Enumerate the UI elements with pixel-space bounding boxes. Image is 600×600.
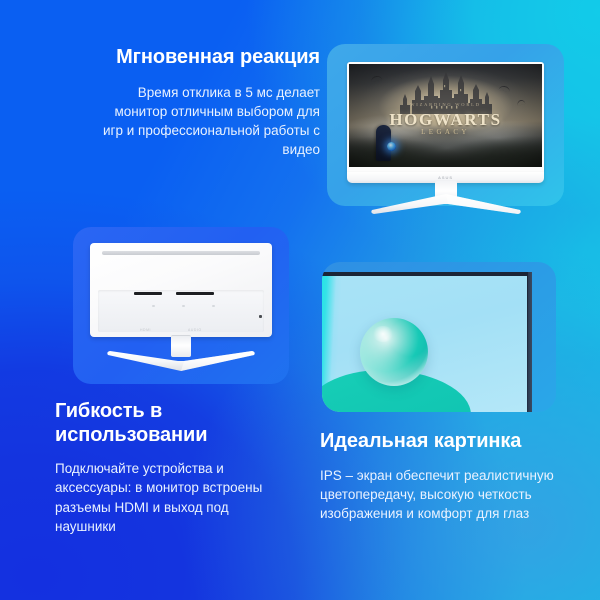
ips-wallpaper-sphere-highlight <box>372 326 394 342</box>
product-poster: WIZARDING WORLD HOGWARTS LEGACY ASUS <box>0 0 600 600</box>
monitor-rear-indicator <box>259 315 262 318</box>
text-block-instant-response: Мгновенная реакция Время отклика в 5 мс … <box>96 46 320 159</box>
monitor-stand-base <box>370 194 522 216</box>
heading-ideal-picture: Идеальная картинка <box>320 430 570 454</box>
monitor-rear-view: HDMI AUDIO <box>90 243 272 373</box>
text-block-flexibility: Гибкость в использовании Подключайте уст… <box>55 400 277 536</box>
ips-monitor-closeup <box>322 272 532 412</box>
audio-port-label: AUDIO <box>188 328 202 332</box>
monitor-rear-recess <box>98 290 264 332</box>
game-art-vignette <box>349 64 542 167</box>
heading-instant-response: Мгновенная реакция <box>96 46 320 70</box>
heading-flexibility: Гибкость в использовании <box>55 400 277 447</box>
ips-wallpaper-sphere <box>360 318 428 386</box>
card-flexibility: HDMI AUDIO <box>73 227 289 384</box>
hdmi-port-label: HDMI <box>140 328 151 332</box>
card-ideal-picture <box>322 262 556 412</box>
body-ideal-picture: IPS – экран обеспечит реалистичную цвето… <box>320 466 570 523</box>
ips-panel-side-edge <box>528 272 532 412</box>
monitor-rear-vent-slot <box>102 251 260 255</box>
monitor-rear-vent-dot <box>212 305 215 307</box>
monitor-rear-vent-dot <box>182 305 185 307</box>
monitor-bezel: WIZARDING WORLD HOGWARTS LEGACY <box>347 62 544 172</box>
monitor-rear-vent-dot <box>152 305 155 307</box>
text-block-ideal-picture: Идеальная картинка IPS – экран обеспечит… <box>320 430 570 523</box>
body-flexibility: Подключайте устройства и аксессуары: в м… <box>55 459 277 536</box>
monitor-screen: WIZARDING WORLD HOGWARTS LEGACY <box>349 64 542 167</box>
hdmi-port <box>134 292 162 295</box>
monitor-front-view: WIZARDING WORLD HOGWARTS LEGACY ASUS <box>347 62 544 194</box>
ips-panel-frame <box>322 272 532 412</box>
body-instant-response: Время отклика в 5 мс делает монитор отли… <box>96 83 320 160</box>
monitor-rear-body: HDMI AUDIO <box>90 243 272 337</box>
ips-panel-screen <box>322 276 527 412</box>
card-instant-response: WIZARDING WORLD HOGWARTS LEGACY ASUS <box>327 44 564 206</box>
audio-port <box>176 292 214 295</box>
brand-logo: ASUS <box>438 175 453 180</box>
monitor-rear-stand-base <box>106 347 256 371</box>
